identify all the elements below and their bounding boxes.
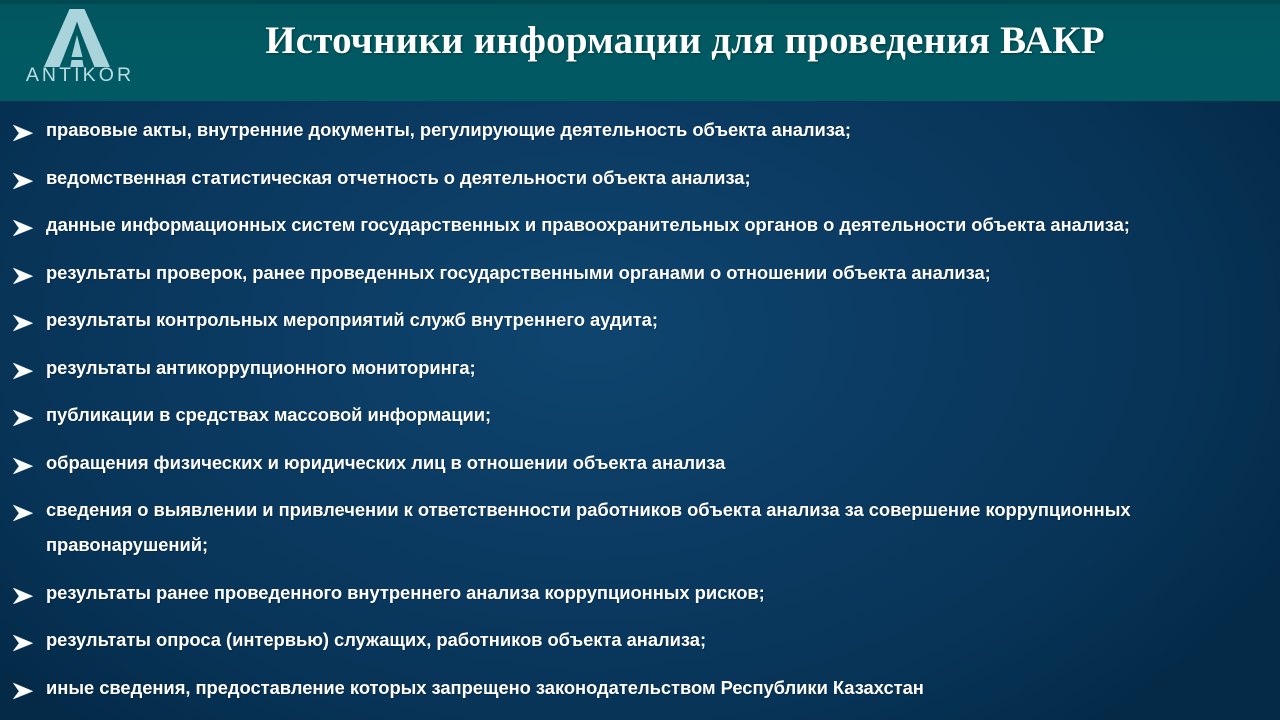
arrowhead-bullet-icon xyxy=(12,357,34,377)
list-item-label: публикации в средствах массовой информац… xyxy=(46,397,1254,432)
arrowhead-bullet-icon xyxy=(12,167,34,187)
arrowhead-bullet-icon xyxy=(12,582,34,602)
list-item: ведомственная статистическая отчетность … xyxy=(0,160,1280,195)
page-title: Источники информации для проведения ВАКР xyxy=(150,17,1220,65)
antikor-chevron-a-icon xyxy=(44,9,110,67)
list-item: результаты антикоррупционного мониторинг… xyxy=(0,350,1280,385)
list-item: результаты проверок, ранее проведенных г… xyxy=(0,255,1280,290)
arrowhead-bullet-icon xyxy=(12,452,34,472)
list-item-label: данные информационных систем государстве… xyxy=(46,207,1254,242)
list-item: иные сведения, предоставление которых за… xyxy=(0,670,1280,705)
arrowhead-bullet-icon xyxy=(12,119,34,139)
antikor-logo: ANTIKOR xyxy=(14,4,146,96)
list-item-label: обращения физических и юридических лиц в… xyxy=(46,445,1254,480)
list-item-label: результаты ранее проведенного внутреннег… xyxy=(46,575,1254,610)
list-item-label: ведомственная статистическая отчетность … xyxy=(46,160,1254,195)
arrowhead-bullet-icon xyxy=(12,499,34,519)
arrowhead-bullet-icon xyxy=(12,214,34,234)
list-item: сведения о выявлении и привлечении к отв… xyxy=(0,492,1280,562)
arrowhead-bullet-icon xyxy=(12,262,34,282)
list-item-label: правовые акты, внутренние документы, рег… xyxy=(46,112,1254,147)
header-top-edge xyxy=(0,0,1280,4)
arrowhead-bullet-icon xyxy=(12,404,34,424)
list-item-label: иные сведения, предоставление которых за… xyxy=(46,670,1254,705)
list-item: правовые акты, внутренние документы, рег… xyxy=(0,112,1280,147)
arrowhead-bullet-icon xyxy=(12,677,34,697)
list-item: результаты контрольных мероприятий служб… xyxy=(0,302,1280,337)
list-item-label: результаты контрольных мероприятий служб… xyxy=(46,302,1254,337)
presentation-slide: ANTIKOR Источники информации для проведе… xyxy=(0,0,1280,720)
antikor-wordmark: ANTIKOR xyxy=(14,66,146,86)
list-item: результаты ранее проведенного внутреннег… xyxy=(0,575,1280,610)
list-item-label: результаты антикоррупционного мониторинг… xyxy=(46,350,1254,385)
list-item: данные информационных систем государстве… xyxy=(0,207,1280,242)
arrowhead-bullet-icon xyxy=(12,629,34,649)
list-item-label: результаты опроса (интервью) служащих, р… xyxy=(46,622,1254,657)
slide-header-bar: ANTIKOR Источники информации для проведе… xyxy=(0,0,1280,101)
information-sources-list: правовые акты, внутренние документы, рег… xyxy=(0,112,1280,705)
list-item: результаты опроса (интервью) служащих, р… xyxy=(0,622,1280,657)
arrowhead-bullet-icon xyxy=(12,309,34,329)
list-item-label: сведения о выявлении и привлечении к отв… xyxy=(46,492,1254,562)
list-item: обращения физических и юридических лиц в… xyxy=(0,445,1280,480)
list-item-label: результаты проверок, ранее проведенных г… xyxy=(46,255,1254,290)
slide-body: правовые акты, внутренние документы, рег… xyxy=(0,101,1280,720)
list-item: публикации в средствах массовой информац… xyxy=(0,397,1280,432)
